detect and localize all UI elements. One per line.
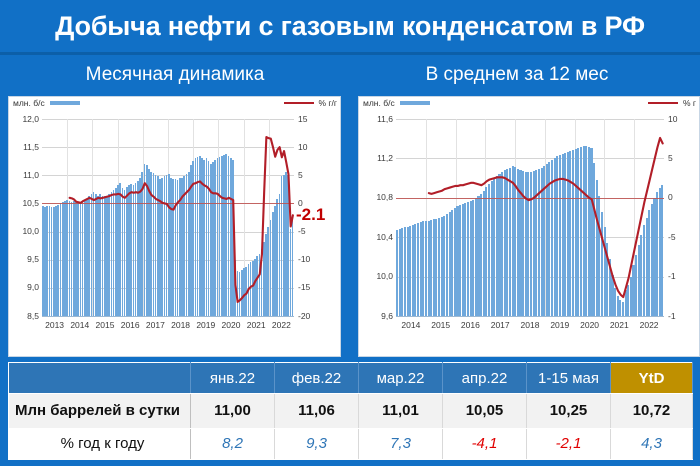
y-axis-tick-label: 8,5 (9, 312, 39, 321)
chart-panel-monthly: млн. б/с % г/г -2.1 8,59,09,510,010,511,… (8, 96, 341, 357)
summary-table: янв.22фев.22мар.22апр.221-15 маяYtDМлн б… (8, 362, 693, 460)
summary-table-body: янв.22фев.22мар.22апр.221-15 маяYtDМлн б… (9, 363, 693, 460)
y2-axis-tick-label: 10 (668, 115, 677, 124)
y-axis-tick-label: 11,6 (359, 115, 393, 124)
x-axis-tick-label: 2019 (544, 321, 576, 330)
x-axis-tick-label: 2020 (574, 321, 606, 330)
y2-axis-tick-label: -1 (668, 272, 676, 281)
legend-line-label-clipped: % г (683, 98, 696, 108)
table-row: Млн баррелей в сутки11,0011,0611,0110,05… (9, 394, 693, 428)
table-row-label: % год к году (9, 428, 191, 459)
x-axis-tick-label: 2017 (484, 321, 516, 330)
annotation-latest-yoy: -2.1 (296, 205, 325, 225)
legend-bars-label: млн. б/с (363, 98, 395, 108)
chart-legend-monthly: млн. б/с % г/г (9, 97, 340, 116)
y2-axis-tick-label: 5 (298, 171, 303, 180)
y2-axis-tick-label: -5 (298, 227, 306, 236)
y2-axis-tick-label: -1 (668, 312, 676, 321)
y2-axis-tick-label: 0 (298, 199, 303, 208)
table-cell: 11,00 (191, 394, 275, 428)
table-cell: 8,2 (191, 428, 275, 459)
y2-axis-tick-label: 0 (668, 193, 673, 202)
x-axis-tick-label: 2015 (425, 321, 457, 330)
y-axis-tick-label: 10,4 (359, 233, 393, 242)
axis-baseline (396, 316, 664, 317)
plot-area-monthly (42, 119, 294, 316)
y-axis-tick-label: 9,5 (9, 255, 39, 264)
legend-bars-label: млн. б/с (13, 98, 45, 108)
y-axis-tick-label: 10,8 (359, 193, 393, 202)
y-axis-tick-label: 10,0 (9, 227, 39, 236)
legend-bars-avg12m: млн. б/с (363, 98, 430, 108)
axis-baseline (42, 316, 294, 317)
y2-axis-tick-label: 15 (298, 115, 307, 124)
y-axis-tick-label: 9,6 (359, 312, 393, 321)
x-axis-tick-label: 2016 (454, 321, 486, 330)
table-header-мар.22: мар.22 (359, 363, 443, 394)
table-cell: 10,72 (611, 394, 693, 428)
slide-root: Добыча нефти с газовым конденсатом в РФ … (0, 0, 700, 466)
table-cell: 11,06 (275, 394, 359, 428)
x-axis-tick-label: 2018 (514, 321, 546, 330)
y-axis-tick-label: 10,5 (9, 199, 39, 208)
y-axis-tick-label: 10,0 (359, 272, 393, 281)
y-axis-tick-label: 9,0 (9, 283, 39, 292)
legend-line-monthly: % г/г (284, 98, 337, 108)
table-header-corner (9, 363, 191, 394)
table-header-row: янв.22фев.22мар.22апр.221-15 маяYtD (9, 363, 693, 394)
yoy-line-series (42, 119, 294, 316)
y-axis-tick-label: 11,2 (359, 154, 393, 163)
legend-line-swatch-icon (284, 102, 314, 104)
table-header-1-15 мая: 1-15 мая (527, 363, 611, 394)
subtitle-right: В среднем за 12 мес (352, 57, 682, 93)
chart-legend-avg12m: млн. б/с % г (359, 97, 699, 116)
table-cell: 9,3 (275, 428, 359, 459)
subtitle-left: Месячная динамика (10, 57, 340, 93)
legend-bar-swatch-icon (50, 101, 80, 105)
table-cell: -4,1 (443, 428, 527, 459)
y2-axis-tick-label: -5 (668, 233, 676, 242)
chart-panel-avg12m: млн. б/с % г 9,610,010,410,811,211,61050… (358, 96, 700, 357)
table-cell: 10,25 (527, 394, 611, 428)
table-cell: 7,3 (359, 428, 443, 459)
y-axis-tick-label: 11,5 (9, 143, 39, 152)
x-axis-tick-label: 2022 (633, 321, 665, 330)
legend-bars-monthly: млн. б/с (13, 98, 80, 108)
legend-line-avg12m: % г (648, 98, 696, 108)
table-header-янв.22: янв.22 (191, 363, 275, 394)
table-cell: 10,05 (443, 394, 527, 428)
legend-bar-swatch-icon (400, 101, 430, 105)
table-header-YtD: YtD (611, 363, 693, 394)
y-axis-tick-label: 12,0 (9, 115, 39, 124)
table-header-фев.22: фев.22 (275, 363, 359, 394)
table-row: % год к году8,29,37,3-4,1-2,14,3 (9, 428, 693, 459)
y2-axis-tick-label: 5 (668, 154, 673, 163)
table-cell: -2,1 (527, 428, 611, 459)
x-axis-tick-label: 2021 (603, 321, 635, 330)
y2-axis-tick-label: 10 (298, 143, 307, 152)
title-bar: Добыча нефти с газовым конденсатом в РФ (0, 0, 700, 52)
table-cell: 4,3 (611, 428, 693, 459)
x-axis-tick-label: 2014 (395, 321, 427, 330)
y2-axis-tick-label: -15 (298, 283, 310, 292)
title-divider (0, 52, 700, 55)
subtitle-row: Месячная динамика В среднем за 12 мес (0, 57, 700, 93)
x-axis-tick-label: 2022 (265, 321, 297, 330)
table-row-label: Млн баррелей в сутки (9, 394, 191, 428)
table-cell: 11,01 (359, 394, 443, 428)
plot-area-avg12m (396, 119, 664, 316)
legend-line-label: % г/г (319, 98, 337, 108)
page-title: Добыча нефти с газовым конденсатом в РФ (55, 11, 645, 42)
y-axis-tick-label: 11,0 (9, 171, 39, 180)
yoy-line-series (396, 119, 664, 316)
y2-axis-tick-label: -10 (298, 255, 310, 264)
table-header-апр.22: апр.22 (443, 363, 527, 394)
y2-axis-tick-label: -20 (298, 312, 310, 321)
legend-line-swatch-icon (648, 102, 678, 104)
